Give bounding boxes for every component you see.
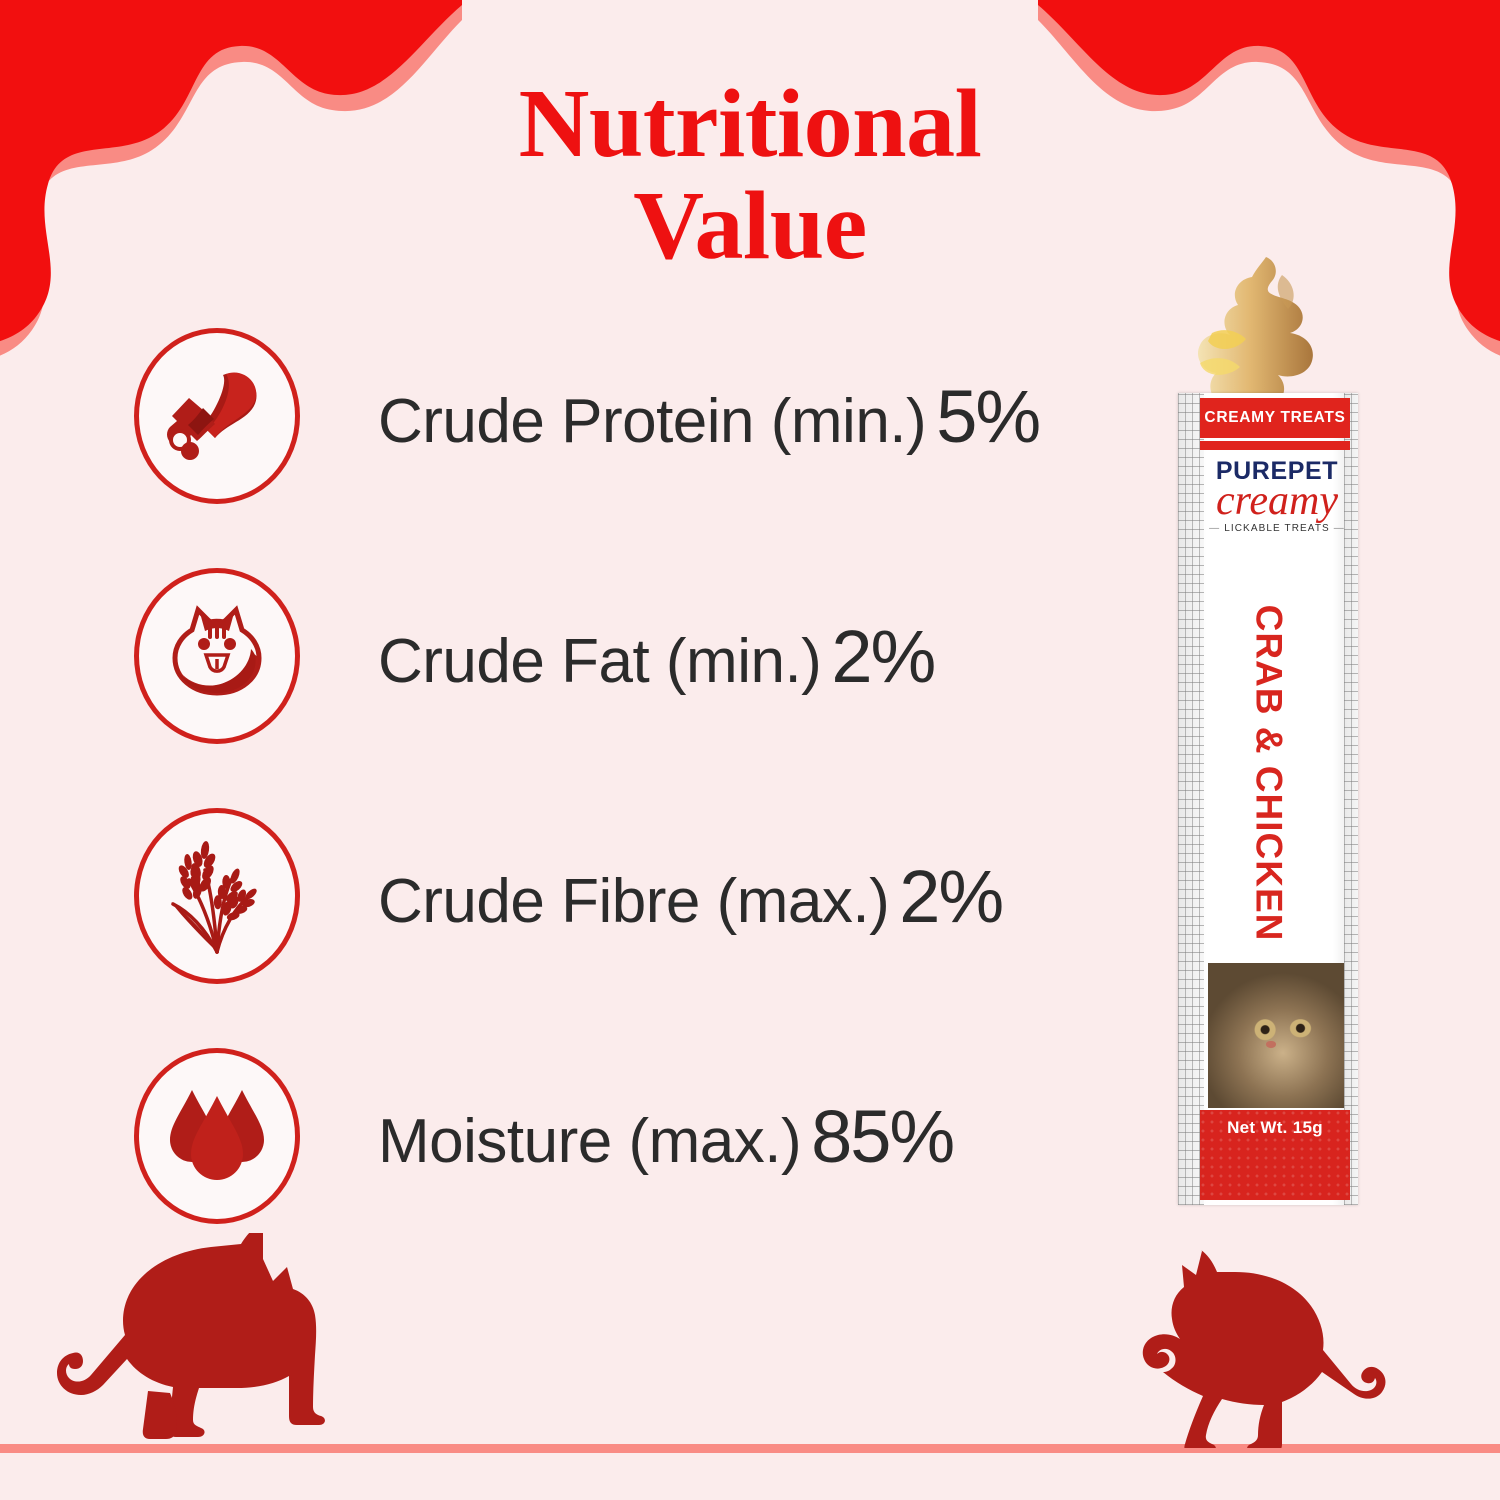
- package-net-weight-band: Net Wt. 15g: [1200, 1110, 1350, 1200]
- cat-standing-silhouette: [20, 1233, 420, 1448]
- water-droplets-icon: [164, 1086, 270, 1186]
- nutrition-row-label-fat: Crude Fat (min.)2%: [378, 614, 934, 699]
- icon-badge-protein: [134, 328, 300, 504]
- package-net-weight-text: Net Wt. 15g: [1200, 1118, 1350, 1138]
- icon-badge-moisture: [134, 1048, 300, 1224]
- page-title: Nutritional Value: [0, 74, 1500, 278]
- page-title-line-1: Nutritional: [0, 74, 1500, 176]
- nutrition-row-label-protein: Crude Protein (min.)5%: [378, 374, 1039, 459]
- wheat-stalks-icon: [161, 836, 273, 956]
- chicken-drumstick-icon: [165, 361, 269, 471]
- nutrition-row-crude-fibre: Crude Fibre (max.)2%: [134, 776, 1144, 1016]
- package-banner-stripe: [1200, 441, 1350, 450]
- nutrition-row-label-moisture: Moisture (max.)85%: [378, 1094, 953, 1179]
- package-flavour-block: CRAB & CHICKEN: [1178, 583, 1358, 963]
- nutrition-row-crude-fat: Crude Fat (min.)2%: [134, 536, 1144, 776]
- package-flavour-text: CRAB & CHICKEN: [1247, 605, 1289, 942]
- sub-brand-creamy: creamy: [1204, 482, 1350, 522]
- icon-badge-fat: [134, 568, 300, 744]
- nutrition-row-crude-protein: Crude Protein (min.)5%: [134, 296, 1144, 536]
- kitten-photo: [1208, 963, 1344, 1108]
- nutrition-row-moisture: Moisture (max.)85%: [134, 1016, 1144, 1256]
- package-banner: CREAMY TREATS: [1200, 398, 1350, 438]
- package-banner-text: CREAMY TREATS: [1204, 409, 1345, 427]
- infographic-canvas: Nutritional Value: [0, 0, 1500, 1500]
- value-text-protein: 5%: [936, 375, 1039, 458]
- label-text-fibre: Crude Fibre (max.): [378, 867, 889, 936]
- label-text-protein: Crude Protein (min.): [378, 387, 926, 456]
- value-text-fat: 2%: [831, 615, 934, 698]
- package-brand-block: PUREPET creamy LICKABLE TREATS: [1204, 459, 1350, 534]
- cat-face-icon: [162, 597, 272, 715]
- icon-badge-fibre: [134, 808, 300, 984]
- cream-swirl-image: [1192, 255, 1344, 405]
- label-text-moisture: Moisture (max.): [378, 1107, 801, 1176]
- product-package: CREAMY TREATS PUREPET creamy LICKABLE TR…: [1178, 255, 1358, 1205]
- brand-tagline: LICKABLE TREATS: [1204, 523, 1350, 534]
- nutrition-list: Crude Protein (min.)5%: [134, 296, 1144, 1256]
- value-text-fibre: 2%: [899, 855, 1002, 938]
- nutrition-row-label-fibre: Crude Fibre (max.)2%: [378, 854, 1002, 939]
- package-body: CREAMY TREATS PUREPET creamy LICKABLE TR…: [1178, 393, 1358, 1205]
- value-text-moisture: 85%: [811, 1095, 953, 1178]
- cat-playful-silhouette: [1140, 1233, 1470, 1448]
- label-text-fat: Crude Fat (min.): [378, 627, 821, 696]
